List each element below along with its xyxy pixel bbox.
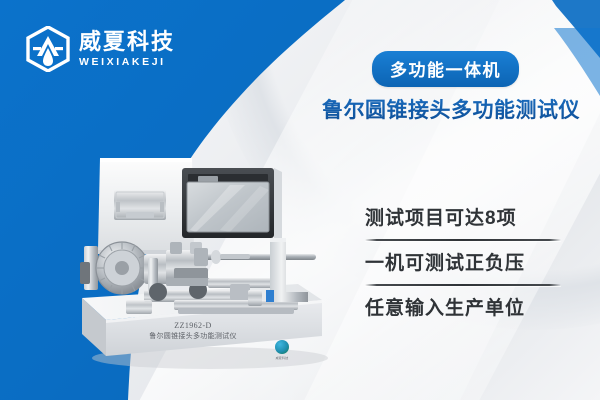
feature-item: 任意输入生产单位	[365, 286, 561, 329]
brand-name-cn: 威夏科技	[79, 31, 175, 53]
brand-name-en: WEIXIAKEJI	[79, 57, 175, 68]
banner-root: 威夏科技 WEIXIAKEJI 多功能一体机 鲁尔圆锥接头多功能测试仪 测试项目…	[0, 0, 600, 400]
page-title: 鲁尔圆锥接头多功能测试仪	[306, 94, 596, 124]
feature-list: 测试项目可达8项 一机可测试正负压 任意输入生产单位	[365, 196, 561, 329]
hexagon-shield-logo-icon	[26, 26, 70, 72]
machine-brand-caption: 威夏科技	[272, 356, 292, 360]
feature-item: 测试项目可达8项	[365, 196, 561, 239]
machine-brand-logo-icon	[275, 340, 289, 354]
feature-item: 一机可测试正负压	[365, 241, 561, 284]
product-type-badge: 多功能一体机	[372, 51, 519, 87]
machine-brand-sticker: 威夏科技	[272, 340, 292, 362]
brand-logo: 威夏科技 WEIXIAKEJI	[26, 26, 175, 72]
